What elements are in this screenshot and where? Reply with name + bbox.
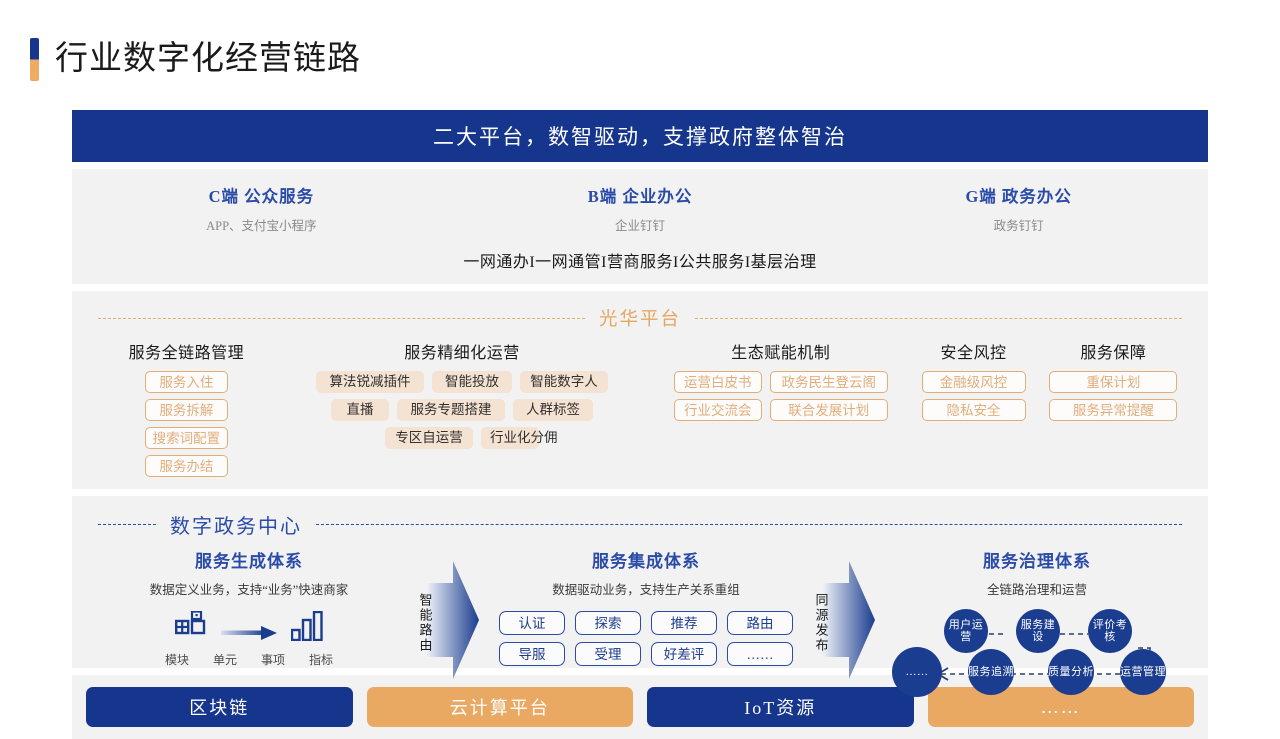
tag-item[interactable]: 服务办结 <box>145 455 228 477</box>
group-tag-list: 金融级风控 隐私安全 <box>914 371 1032 421</box>
service-generation-block: 服务生成体系 数据定义业务，支持“业务”快速商家 <box>98 547 400 668</box>
tag-item[interactable]: 智能投放 <box>432 371 512 393</box>
group-title: 服务精细化运营 <box>287 339 637 363</box>
group-tag-list: 运营白皮书 政务民生登云阁 行业交流会 联合发展计划 <box>667 371 894 421</box>
tag-item[interactable]: 政务民生登云阁 <box>770 371 888 393</box>
digital-gov-center-panel: 数字政务中心 服务生成体系 数据定义业务，支持“业务”快速商家 <box>72 496 1208 668</box>
integration-tag[interactable]: …… <box>727 642 793 666</box>
guanghua-platform-panel: 光华平台 服务全链路管理 服务入住 服务拆解 搜索词配置 服务办结 服务精细化运… <box>72 291 1208 489</box>
channel-subtitle: 政务钉钉 <box>829 215 1208 234</box>
service-integration-block: 服务集成体系 数据驱动业务，支持生产关系重组 认证 探索 推荐 路由 导服 受理… <box>496 547 796 666</box>
integration-tag[interactable]: 导服 <box>499 642 565 666</box>
tag-item[interactable]: 专区自运营 <box>385 427 473 449</box>
tag-item[interactable]: 服务专题搭建 <box>397 399 505 421</box>
governance-node[interactable]: 服务追溯 <box>968 649 1014 695</box>
tag-item[interactable]: 搜索词配置 <box>145 427 228 449</box>
block-subtitle: 数据定义业务，支持“业务”快速商家 <box>98 579 400 598</box>
channel-title: G端 政务办公 <box>829 183 1208 207</box>
channel-title: B端 企业办公 <box>451 183 830 207</box>
guanghua-groups: 服务全链路管理 服务入住 服务拆解 搜索词配置 服务办结 服务精细化运营 算法锐… <box>72 339 1208 477</box>
governance-node[interactable]: 运营管理 <box>1120 649 1166 695</box>
flow-arrow-same-source-publish: 同源发布 <box>796 547 892 684</box>
channels-panel: C端 公众服务 APP、支付宝小程序 B端 企业办公 企业钉钉 G端 政务办公 … <box>72 169 1208 284</box>
dashed-divider-right <box>695 318 1182 319</box>
tag-item[interactable]: 重保计划 <box>1049 371 1177 393</box>
chevron-arrow-icon <box>427 561 479 684</box>
group-title: 服务全链路管理 <box>100 339 273 363</box>
integration-tag[interactable]: 路由 <box>727 611 793 635</box>
channel-subtitle: APP、支付宝小程序 <box>72 215 451 234</box>
integration-tag[interactable]: 好差评 <box>651 642 717 666</box>
channel-b-end: B端 企业办公 企业钉钉 <box>451 183 830 234</box>
governance-node[interactable]: 服务建设 <box>1016 609 1060 653</box>
tag-item[interactable]: 运营白皮书 <box>674 371 762 393</box>
page-title: 行业数字化经营链路 <box>55 43 361 76</box>
page-header: 行业数字化经营链路 <box>30 36 361 82</box>
generation-icon-row <box>98 612 400 646</box>
governance-node[interactable]: 用户运营 <box>944 609 988 653</box>
tag-item[interactable]: 人群标签 <box>513 399 593 421</box>
tag-item[interactable]: 服务拆解 <box>145 399 228 421</box>
block-title: 服务治理体系 <box>892 547 1182 572</box>
integration-tag[interactable]: 探索 <box>575 611 641 635</box>
generation-label: 事项 <box>258 651 288 668</box>
block-subtitle: 全链路治理和运营 <box>892 579 1182 598</box>
infra-chip-cloud[interactable]: 云计算平台 <box>367 687 634 727</box>
integration-tag[interactable]: 受理 <box>575 642 641 666</box>
group-title: 服务保障 <box>1047 339 1180 363</box>
tag-item[interactable]: 直播 <box>331 399 389 421</box>
group-service-guarantee: 服务保障 重保计划 服务异常提醒 <box>1047 339 1180 421</box>
block-subtitle: 数据驱动业务，支持生产关系重组 <box>496 579 796 598</box>
digital-gov-section-header: 数字政务中心 <box>72 510 1208 539</box>
headline-banner: 二大平台，数智驱动，支撑政府整体智治 <box>72 110 1208 162</box>
group-ecosystem: 生态赋能机制 运营白皮书 政务民生登云阁 行业交流会 联合发展计划 <box>667 339 894 421</box>
guanghua-label: 光华平台 <box>585 305 695 331</box>
service-governance-block: 服务治理体系 全链路治理和运营 用户运营 <box>892 547 1182 700</box>
tag-item[interactable]: 行业交流会 <box>674 399 762 421</box>
flow-arrow-label: 同源发布 <box>813 593 828 653</box>
tag-item[interactable]: 服务异常提醒 <box>1049 399 1177 421</box>
channel-subtitle: 企业钉钉 <box>451 215 830 234</box>
bar-chart-icon <box>291 611 323 646</box>
gradient-arrow-icon <box>221 625 277 646</box>
channel-row: C端 公众服务 APP、支付宝小程序 B端 企业办公 企业钉钉 G端 政务办公 … <box>72 183 1208 234</box>
channels-footer-text: 一网通办I一网通管I营商服务I公共服务I基层治理 <box>72 248 1208 272</box>
chevron-arrow-icon <box>823 561 875 684</box>
diagram-board: 二大平台，数智驱动，支撑政府整体智治 C端 公众服务 APP、支付宝小程序 B端… <box>72 110 1208 739</box>
governance-node[interactable]: …… <box>892 647 942 697</box>
infra-chip-iot[interactable]: IoT资源 <box>647 687 914 727</box>
group-tag-list: 算法锐减插件 智能投放 智能数字人 直播 服务专题搭建 人群标签 专区自运营 行… <box>287 371 637 449</box>
governance-node[interactable]: 评价考核 <box>1088 609 1132 653</box>
group-title: 安全风控 <box>914 339 1032 363</box>
guanghua-section-header: 光华平台 <box>72 305 1208 331</box>
generation-label: 指标 <box>306 651 336 668</box>
tag-item[interactable]: 行业化分佣 <box>481 427 539 449</box>
generation-label: 单元 <box>210 651 240 668</box>
flow-arrow-intelligent-routing: 智能路由 <box>400 547 496 684</box>
infra-chip-blockchain[interactable]: 区块链 <box>86 687 353 727</box>
dashed-divider-right <box>316 524 1182 525</box>
dashed-divider-left <box>98 524 156 525</box>
tag-item[interactable]: 金融级风控 <box>922 371 1026 393</box>
tag-item[interactable]: 智能数字人 <box>520 371 608 393</box>
block-title: 服务集成体系 <box>496 547 796 572</box>
tag-item[interactable]: 服务入住 <box>145 371 228 393</box>
channel-g-end: G端 政务办公 政务钉钉 <box>829 183 1208 234</box>
tag-item[interactable]: 隐私安全 <box>922 399 1026 421</box>
group-service-chain: 服务全链路管理 服务入住 服务拆解 搜索词配置 服务办结 <box>100 339 273 477</box>
tag-item[interactable]: 算法锐减插件 <box>316 371 424 393</box>
headline-banner-text: 二大平台，数智驱动，支撑政府整体智治 <box>433 121 847 151</box>
block-title: 服务生成体系 <box>98 547 400 572</box>
flow-arrow-label: 智能路由 <box>417 593 432 653</box>
channel-c-end: C端 公众服务 APP、支付宝小程序 <box>72 183 451 234</box>
dashed-divider-left <box>98 318 585 319</box>
title-accent-bar <box>30 38 39 81</box>
governance-node[interactable]: 质量分析 <box>1048 649 1094 695</box>
tag-item[interactable]: 联合发展计划 <box>770 399 888 421</box>
integration-tag-list: 认证 探索 推荐 路由 导服 受理 好差评 …… <box>496 611 796 666</box>
module-grid-icon <box>175 611 207 646</box>
generation-label-row: 模块 单元 事项 指标 <box>98 651 400 668</box>
group-tag-list: 重保计划 服务异常提醒 <box>1047 371 1180 421</box>
group-security-risk: 安全风控 金融级风控 隐私安全 <box>914 339 1032 421</box>
group-title: 生态赋能机制 <box>667 339 894 363</box>
channel-title: C端 公众服务 <box>72 183 451 207</box>
generation-label: 模块 <box>162 651 192 668</box>
group-refined-operations: 服务精细化运营 算法锐减插件 智能投放 智能数字人 直播 服务专题搭建 人群标签… <box>287 339 637 449</box>
governance-cycle-graph: 用户运营 服务建设 评价考核 运营管理 质量分析 服务追溯 …… <box>892 608 1182 700</box>
digital-gov-label: 数字政务中心 <box>156 510 316 539</box>
integration-tag[interactable]: 推荐 <box>651 611 717 635</box>
group-tag-list: 服务入住 服务拆解 搜索词配置 服务办结 <box>100 371 273 477</box>
integration-tag[interactable]: 认证 <box>499 611 565 635</box>
